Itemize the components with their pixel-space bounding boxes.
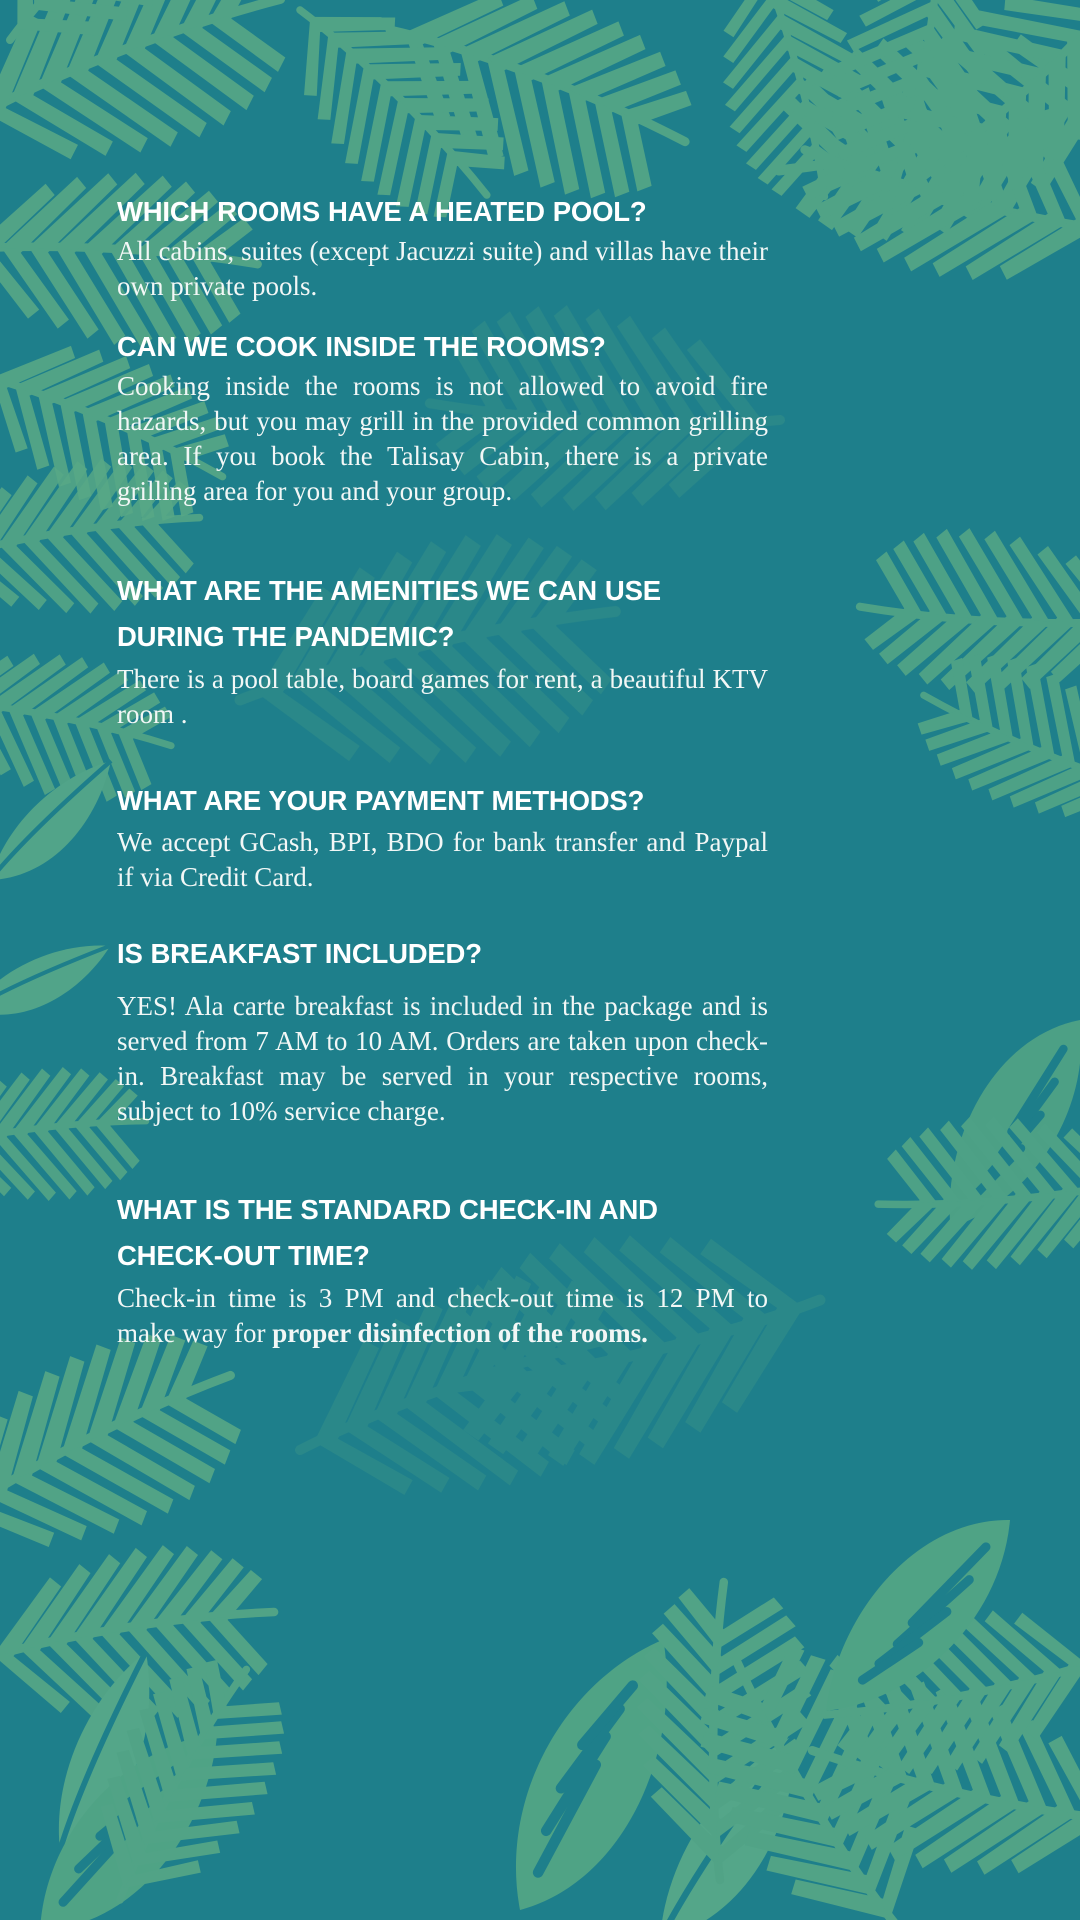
faq-answer: We accept GCash, BPI, BDO for bank trans… xyxy=(117,825,768,895)
faq-answer: YES! Ala carte breakfast is included in … xyxy=(117,989,768,1129)
faq-question: CAN WE COOK INSIDE THE ROOMS? xyxy=(117,325,768,368)
faq-item-amenities-pandemic: WHAT ARE THE AMENITIES WE CAN USE DURING… xyxy=(117,568,768,732)
faq-question: WHAT ARE YOUR PAYMENT METHODS? xyxy=(117,779,768,822)
faq-item-heated-pool: WHICH ROOMS HAVE A HEATED POOL? All cabi… xyxy=(117,190,768,304)
faq-content: WHICH ROOMS HAVE A HEATED POOL? All cabi… xyxy=(117,0,768,1920)
faq-item-check-in-out-time: WHAT IS THE STANDARD CHECK-IN AND CHECK-… xyxy=(117,1187,768,1351)
faq-answer: Check-in time is 3 PM and check-out time… xyxy=(117,1281,768,1351)
faq-answer: All cabins, suites (except Jacuzzi suite… xyxy=(117,234,768,304)
faq-item-cook-inside: CAN WE COOK INSIDE THE ROOMS? Cooking in… xyxy=(117,325,768,509)
faq-answer: Cooking inside the rooms is not allowed … xyxy=(117,369,768,509)
faq-question: IS BREAKFAST INCLUDED? xyxy=(117,932,768,975)
faq-question: WHAT IS THE STANDARD CHECK-IN AND CHECK-… xyxy=(117,1187,768,1279)
faq-item-breakfast-included: IS BREAKFAST INCLUDED? YES! Ala carte br… xyxy=(117,932,768,1129)
faq-answer: There is a pool table, board games for r… xyxy=(117,662,768,732)
faq-question: WHAT ARE THE AMENITIES WE CAN USE DURING… xyxy=(117,568,768,660)
faq-item-payment-methods: WHAT ARE YOUR PAYMENT METHODS? We accept… xyxy=(117,779,768,895)
faq-question: WHICH ROOMS HAVE A HEATED POOL? xyxy=(117,190,768,233)
